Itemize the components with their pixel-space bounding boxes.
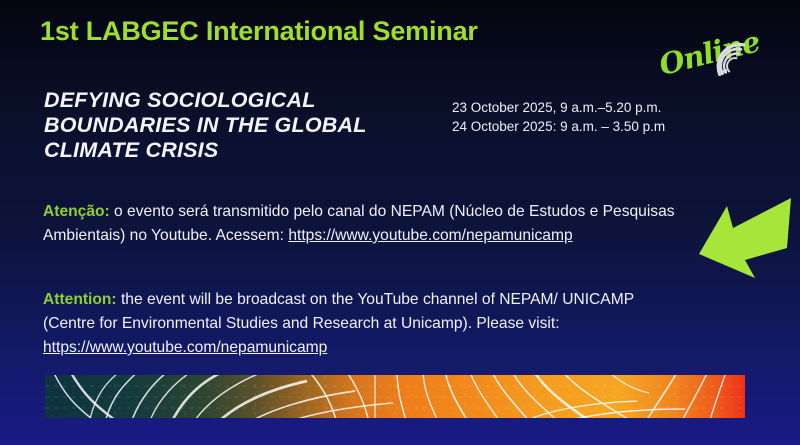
announcement-english: Attention: the event will be broadcast o… [43, 288, 683, 360]
wifi-signal-icon [713, 42, 755, 81]
headline-line-3: CLIMATE CRISIS [44, 138, 404, 163]
announcement-en-body: the event will be broadcast on the YouTu… [43, 291, 634, 332]
climate-contour-banner [45, 375, 745, 418]
youtube-link-en[interactable]: https://www.youtube.com/nepamunicamp [43, 339, 327, 356]
announcement-portuguese: Atenção: o evento será transmitido pelo … [43, 200, 683, 248]
event-date-day-2: 24 October 2025: 9 a.m. – 3.50 p.m [452, 117, 665, 136]
event-date-day-1: 23 October 2025, 9 a.m.–5.20 p.m. [452, 98, 665, 117]
left-arrow-icon [683, 192, 795, 280]
youtube-link-pt[interactable]: https://www.youtube.com/nepamunicamp [288, 227, 572, 244]
seminar-announcement-slide: 1st LABGEC International Seminar Online … [0, 0, 800, 445]
headline-line-2: BOUNDARIES IN THE GLOBAL [44, 113, 404, 138]
announcement-pt-lead: Atenção: [43, 203, 110, 220]
online-badge: Online [664, 42, 760, 100]
headline-line-1: DEFYING SOCIOLOGICAL [44, 88, 404, 113]
seminar-headline: DEFYING SOCIOLOGICAL BOUNDARIES IN THE G… [44, 88, 404, 163]
page-title: 1st LABGEC International Seminar [40, 16, 478, 47]
event-dates: 23 October 2025, 9 a.m.–5.20 p.m. 24 Oct… [452, 98, 665, 136]
announcement-en-lead: Attention: [43, 291, 117, 308]
